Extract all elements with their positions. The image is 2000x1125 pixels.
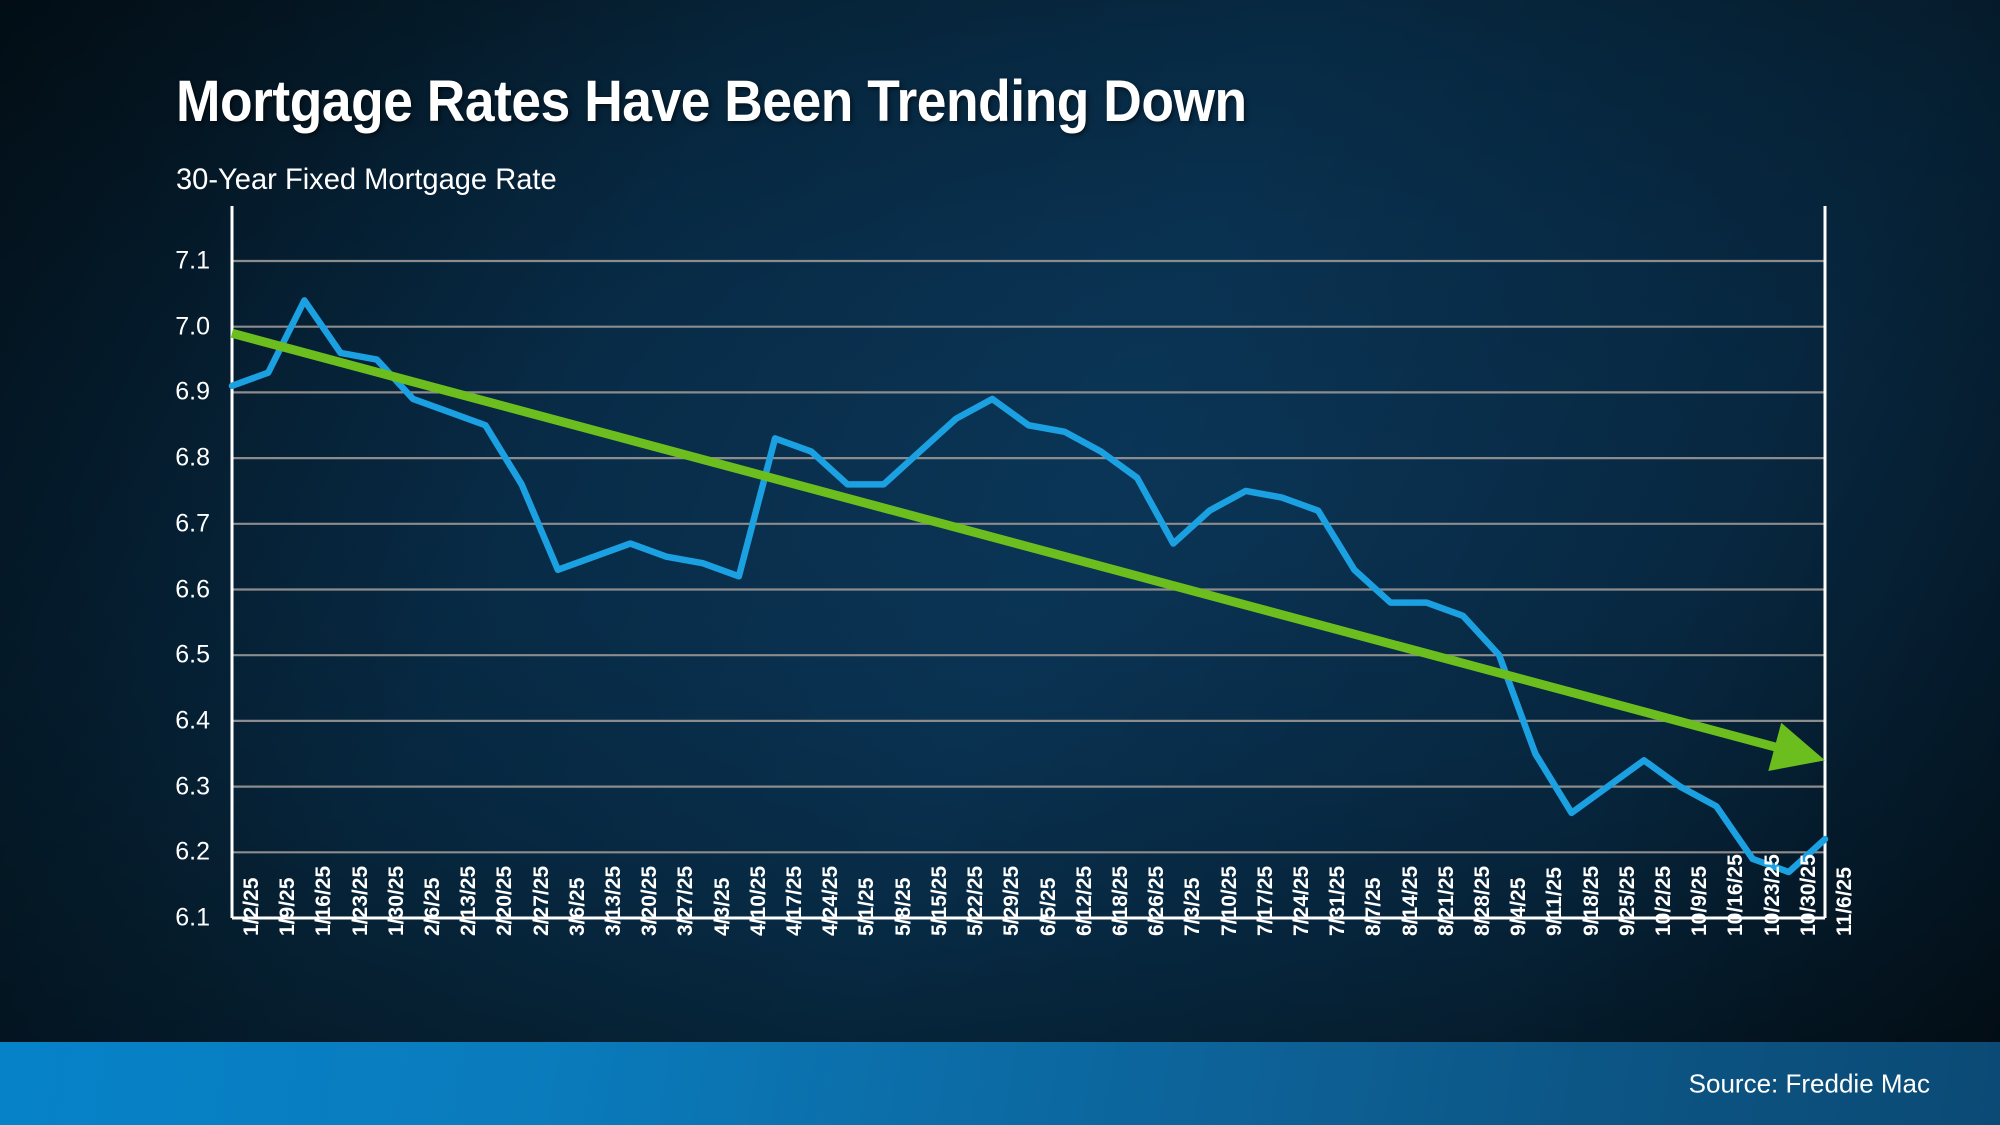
x-axis-tick-label: 9/18/25 [1580, 866, 1604, 936]
trend-arrow-head [1768, 723, 1825, 771]
x-axis-tick-label: 5/8/25 [892, 878, 916, 936]
x-axis-tick-label: 2/27/25 [530, 866, 554, 936]
y-axis-tick-label: 7.0 [120, 312, 210, 341]
x-axis-tick-label: 1/30/25 [385, 866, 409, 936]
x-axis-tick-label: 5/1/25 [855, 878, 879, 936]
x-axis-tick-label: 7/31/25 [1326, 866, 1350, 936]
y-axis-tick-label: 6.2 [120, 838, 210, 867]
x-axis-tick-label: 10/23/25 [1761, 854, 1785, 936]
x-axis-tick-label: 5/22/25 [964, 866, 988, 936]
x-axis-tick-label: 1/2/25 [240, 878, 264, 936]
chart-canvas [0, 0, 2000, 1125]
x-axis-tick-label: 9/25/25 [1616, 866, 1640, 936]
x-axis-tick-label: 3/13/25 [602, 866, 626, 936]
x-axis-tick-label: 9/4/25 [1507, 878, 1531, 936]
y-axis-tick-label: 6.6 [120, 575, 210, 604]
y-axis-tick-label: 6.8 [120, 444, 210, 473]
x-axis-tick-label: 8/7/25 [1362, 878, 1386, 936]
x-axis-tick-label: 5/29/25 [1000, 866, 1024, 936]
y-axis-tick-label: 7.1 [120, 247, 210, 276]
y-axis-tick-label: 6.3 [120, 772, 210, 801]
x-axis-tick-label: 11/6/25 [1833, 867, 1857, 936]
x-axis-tick-label: 4/10/25 [747, 866, 771, 936]
line-chart: 7.17.06.96.86.76.66.56.46.36.26.1 1/2/25… [0, 0, 2000, 1125]
y-axis-tick-label: 6.9 [120, 378, 210, 407]
x-axis-tick-label: 2/6/25 [421, 878, 445, 936]
x-axis-tick-label: 8/14/25 [1399, 866, 1423, 936]
x-axis-tick-label: 1/23/25 [349, 866, 373, 936]
x-axis-tick-label: 1/9/25 [276, 878, 300, 936]
x-axis-tick-label: 4/17/25 [783, 866, 807, 936]
slide-canvas: Mortgage Rates Have Been Trending Down 3… [0, 0, 2000, 1125]
source-label: Source: Freddie Mac [1689, 1068, 1930, 1099]
y-axis-tick-label: 6.1 [120, 904, 210, 933]
y-axis-tick-label: 6.5 [120, 641, 210, 670]
x-axis-tick-label: 4/24/25 [819, 866, 843, 936]
x-axis-tick-label: 10/9/25 [1688, 866, 1712, 936]
x-axis-tick-label: 10/16/25 [1724, 854, 1748, 936]
footer-bar: Source: Freddie Mac [0, 1042, 2000, 1125]
x-axis-tick-label: 8/28/25 [1471, 866, 1495, 936]
x-axis-tick-label: 3/27/25 [674, 866, 698, 936]
x-axis-tick-label: 5/15/25 [928, 866, 952, 936]
x-axis-tick-label: 2/13/25 [457, 866, 481, 936]
x-axis-tick-label: 4/3/25 [711, 878, 735, 936]
x-axis-tick-label: 10/30/25 [1797, 854, 1821, 936]
x-axis-tick-label: 8/21/25 [1435, 866, 1459, 936]
x-axis-tick-label: 6/18/25 [1109, 866, 1133, 936]
x-axis-tick-label: 2/20/25 [493, 866, 517, 936]
gridlines [232, 261, 1825, 852]
x-axis-tick-label: 10/2/25 [1652, 866, 1676, 936]
x-axis-tick-label: 1/16/25 [312, 866, 336, 936]
y-axis-tick-label: 6.4 [120, 706, 210, 735]
x-axis-tick-label: 6/26/25 [1145, 866, 1169, 936]
x-axis-tick-label: 7/17/25 [1254, 866, 1278, 936]
x-axis-tick-label: 7/10/25 [1218, 866, 1242, 936]
y-axis-tick-label: 6.7 [120, 509, 210, 538]
x-axis-tick-label: 9/11/25 [1543, 867, 1567, 936]
x-axis-tick-label: 3/20/25 [638, 866, 662, 936]
x-axis-tick-label: 7/3/25 [1181, 878, 1205, 936]
x-axis-tick-label: 6/12/25 [1073, 866, 1097, 936]
trend-arrow-shaft [232, 333, 1784, 749]
x-axis-tick-label: 7/24/25 [1290, 866, 1314, 936]
x-axis-tick-label: 6/5/25 [1037, 878, 1061, 936]
x-axis-tick-label: 3/6/25 [566, 878, 590, 936]
